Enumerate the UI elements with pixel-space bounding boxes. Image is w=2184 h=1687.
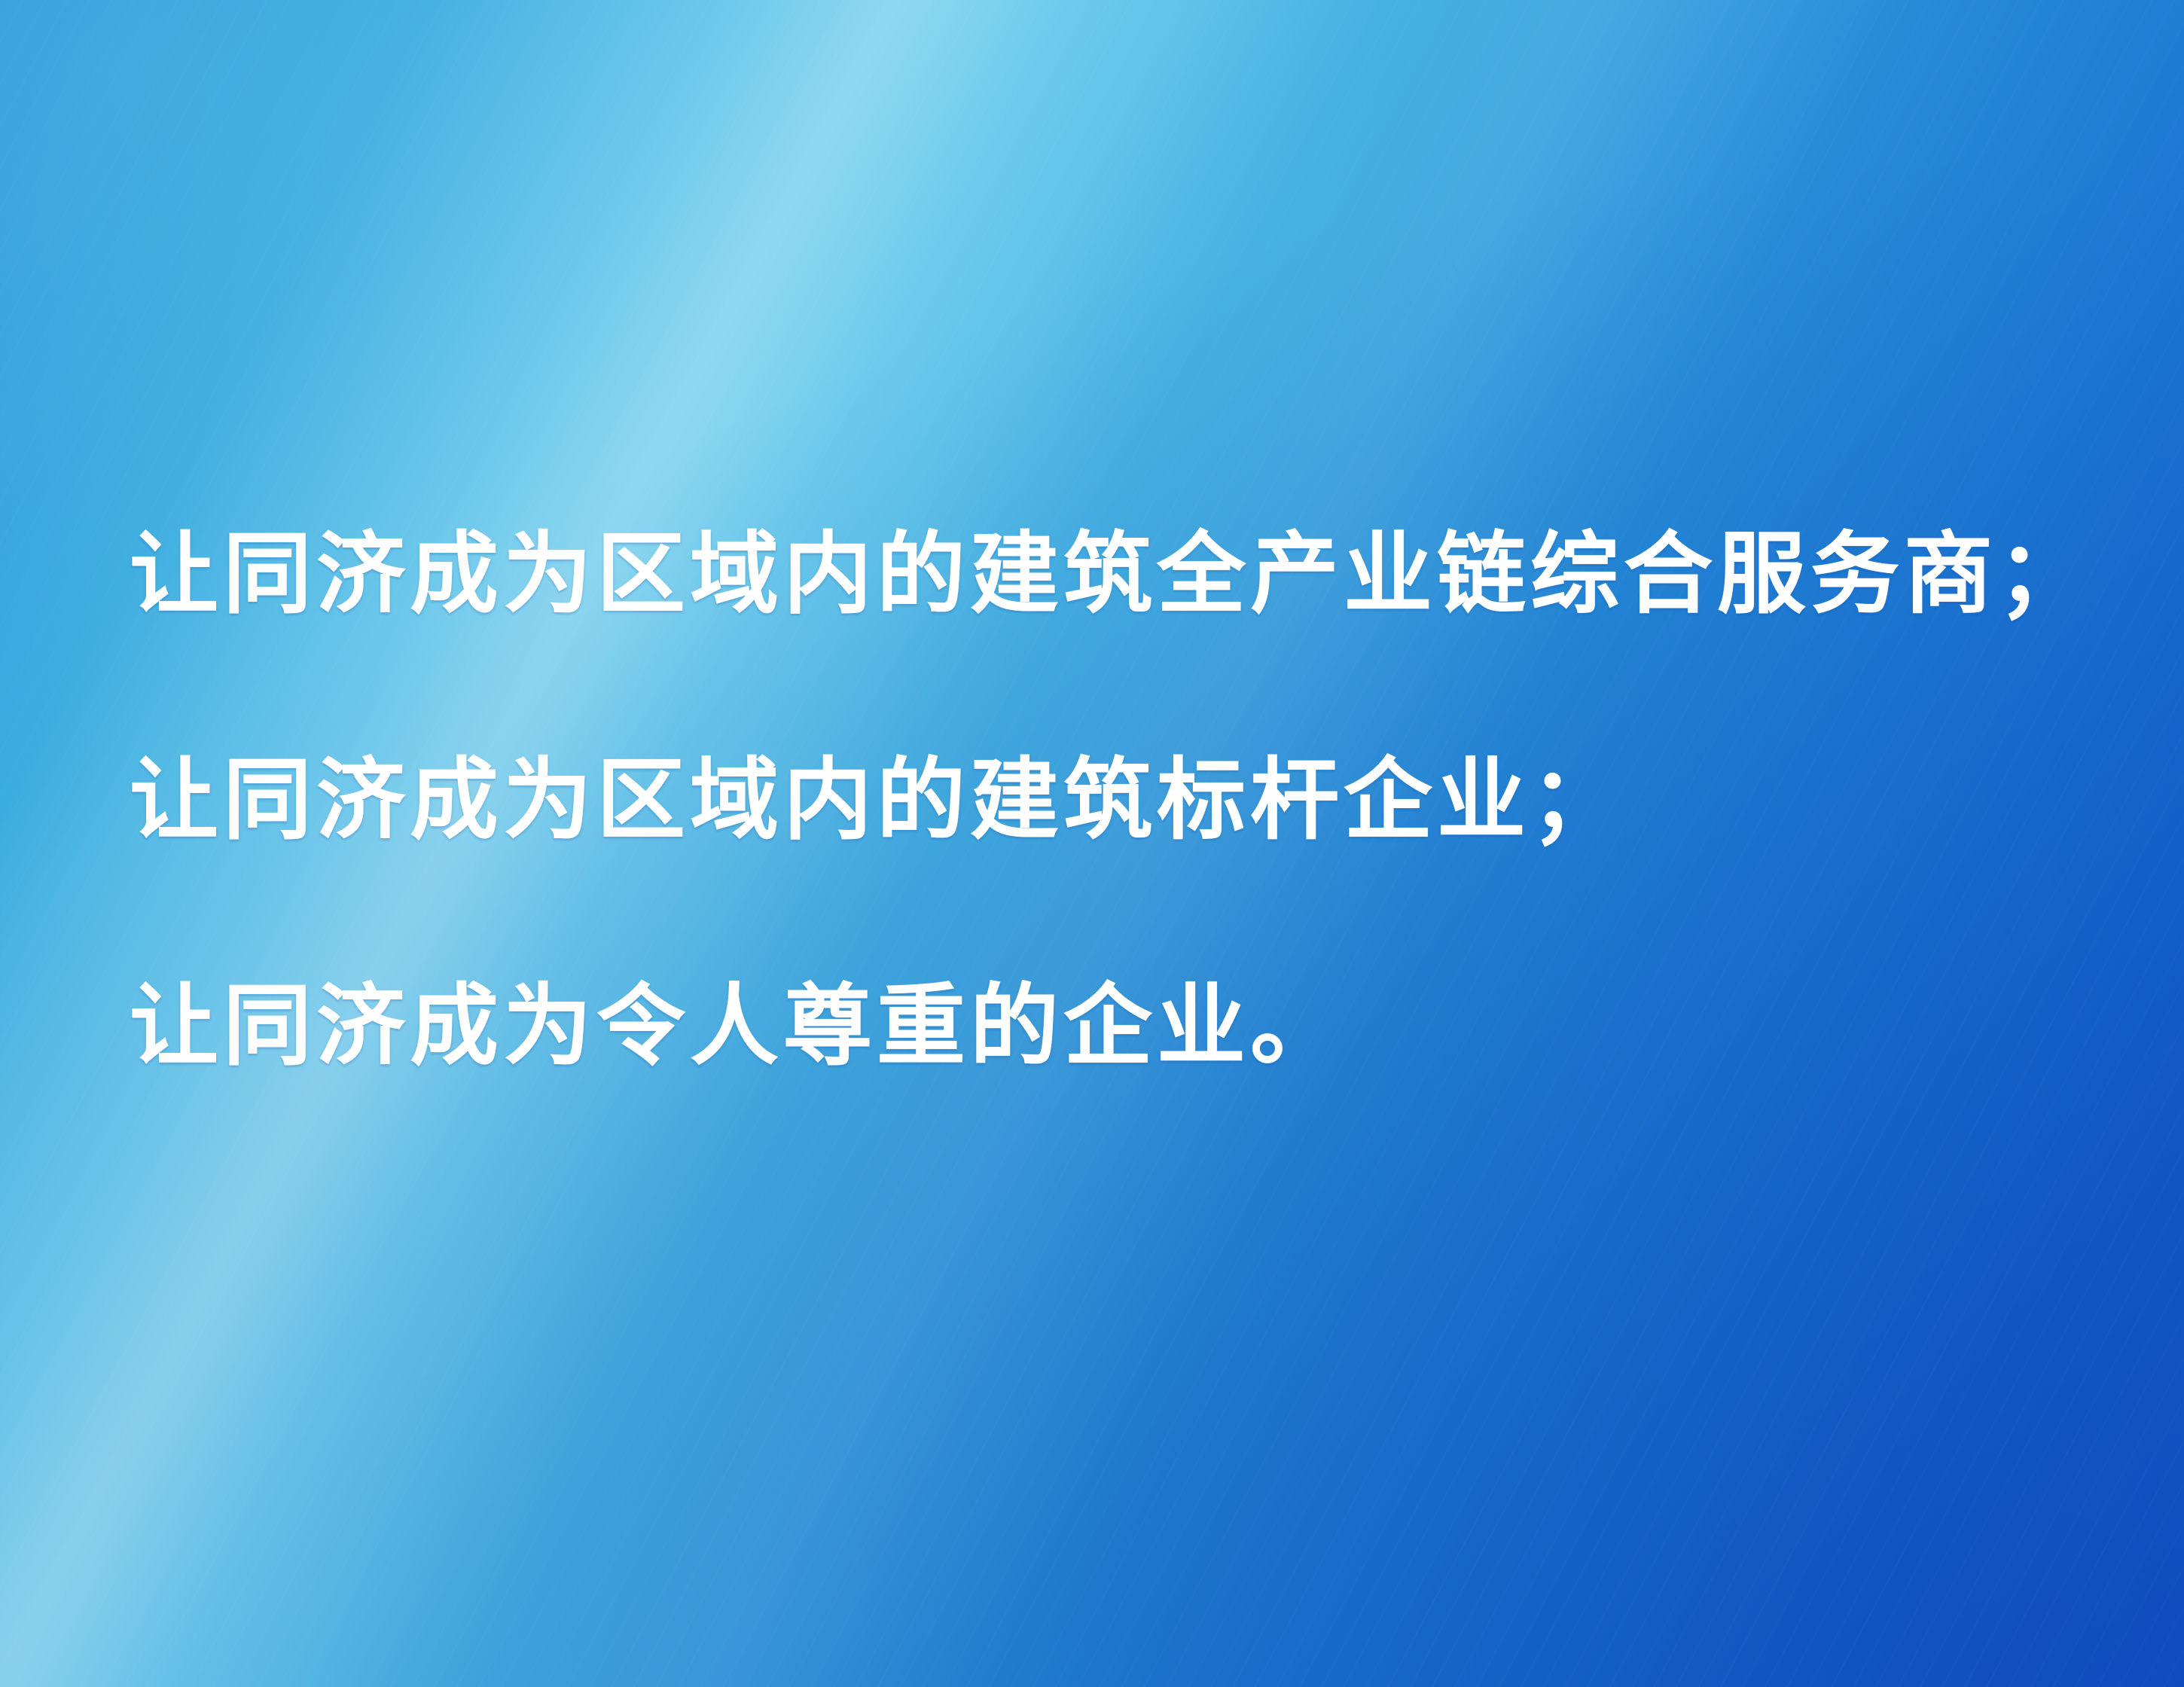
slide-line-3: 让同济成为令人尊重的企业。 (130, 913, 2088, 1139)
presentation-slide: 让同济成为区域内的建筑全产业链综合服务商； 让同济成为区域内的建筑标杆企业； 让… (0, 0, 2184, 1687)
slide-text-block: 让同济成为区域内的建筑全产业链综合服务商； 让同济成为区域内的建筑标杆企业； 让… (130, 461, 2088, 1139)
slide-line-2: 让同济成为区域内的建筑标杆企业； (130, 687, 2088, 913)
slide-line-1: 让同济成为区域内的建筑全产业链综合服务商； (130, 461, 2088, 687)
